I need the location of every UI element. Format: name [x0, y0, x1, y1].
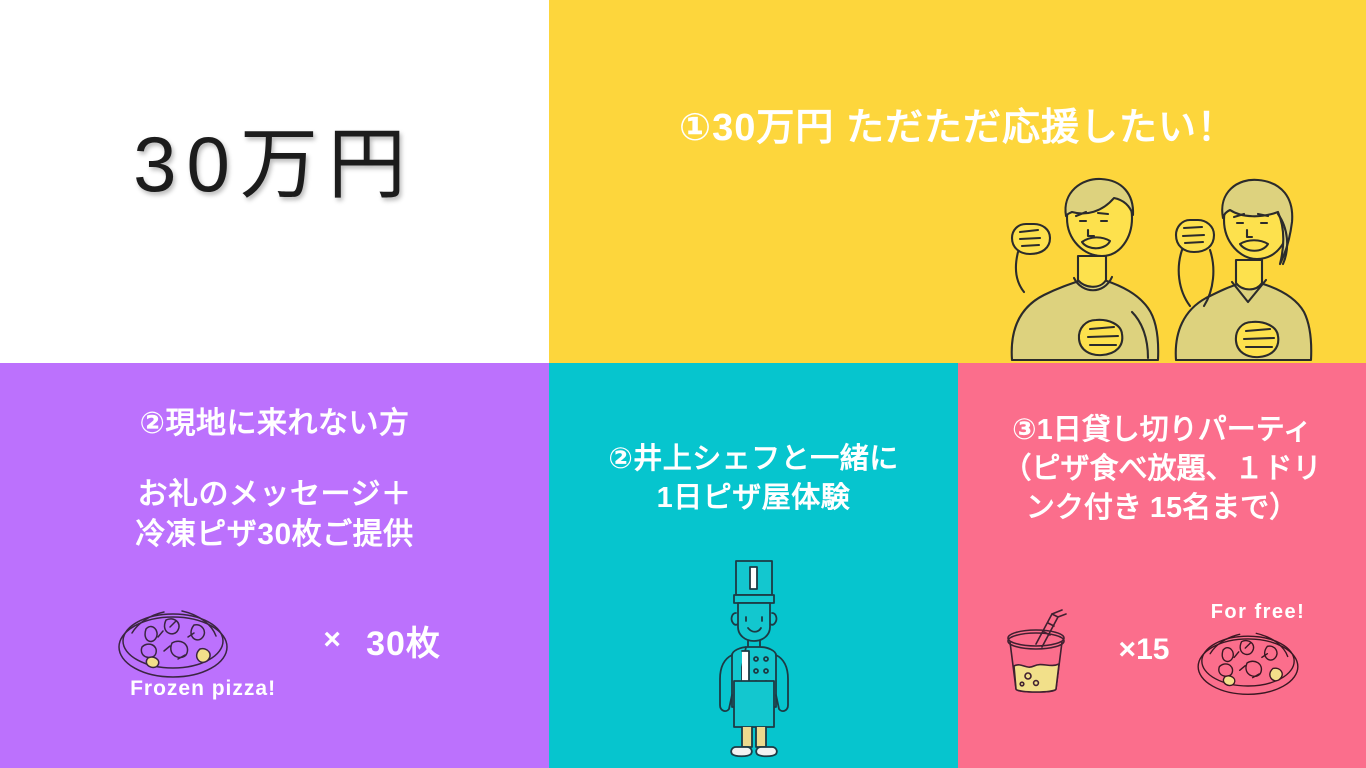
drink-cup-block [996, 604, 1100, 696]
party-panel: ③1日貸し切りパーティ （ピザ食べ放題、１ドリ ンク付き 15名まで） [958, 363, 1366, 768]
frozen-pizza-block: Frozen pizza! [108, 603, 298, 701]
party-heading-line-1: ③1日貸し切りパーティ [968, 411, 1356, 450]
cheering-people-icon [1004, 172, 1314, 362]
chef-panel: ②井上シェフと一緒に 1日ピザ屋体験 [549, 363, 958, 768]
pizza-quantity: 30枚 [366, 616, 441, 665]
remote-quantity-row: Frozen pizza! × 30枚 [0, 603, 549, 701]
frozen-pizza-caption: Frozen pizza! [108, 677, 298, 701]
support-panel-title: ①30万円 ただただ応援したい！ [549, 96, 1366, 151]
remote-panel: ②現地に来れない方 お礼のメッセージ＋ 冷凍ピザ30枚ご提供 [0, 363, 549, 768]
pizza-icon [108, 603, 238, 681]
remote-body-line-2: 冷凍ピザ30枚ご提供 [0, 515, 549, 555]
support-panel: ①30万円 ただただ応援したい！ [549, 0, 1366, 363]
chef-icon [706, 555, 802, 760]
slide-board: 30万円 ①30万円 ただただ応援したい！ [0, 0, 1366, 768]
party-items-row: ×15 For free! [958, 601, 1366, 698]
free-pizza-caption: For free! [1188, 601, 1328, 624]
multiply-symbol: × [298, 623, 366, 657]
free-pizza-block: For free! [1188, 601, 1328, 698]
party-heading-line-2: （ピザ食べ放題、１ドリ [968, 450, 1356, 489]
drink-cup-icon [996, 604, 1082, 696]
remote-panel-heading: ②現地に来れない方 [0, 398, 549, 442]
amount-title: 30万円 [133, 125, 416, 203]
pizza-icon [1188, 626, 1308, 698]
chef-heading-line-2: 1日ピザ屋体験 [549, 479, 958, 518]
chef-heading-line-1: ②井上シェフと一緒に [549, 440, 958, 479]
drink-quantity: ×15 [1100, 633, 1188, 667]
remote-panel-body: お礼のメッセージ＋ 冷凍ピザ30枚ご提供 [0, 475, 549, 554]
chef-panel-heading: ②井上シェフと一緒に 1日ピザ屋体験 [549, 440, 958, 517]
amount-panel: 30万円 [0, 0, 549, 363]
party-heading-line-3: ンク付き 15名まで） [968, 489, 1356, 528]
remote-body-line-1: お礼のメッセージ＋ [0, 475, 549, 515]
party-panel-heading: ③1日貸し切りパーティ （ピザ食べ放題、１ドリ ンク付き 15名まで） [968, 411, 1356, 528]
